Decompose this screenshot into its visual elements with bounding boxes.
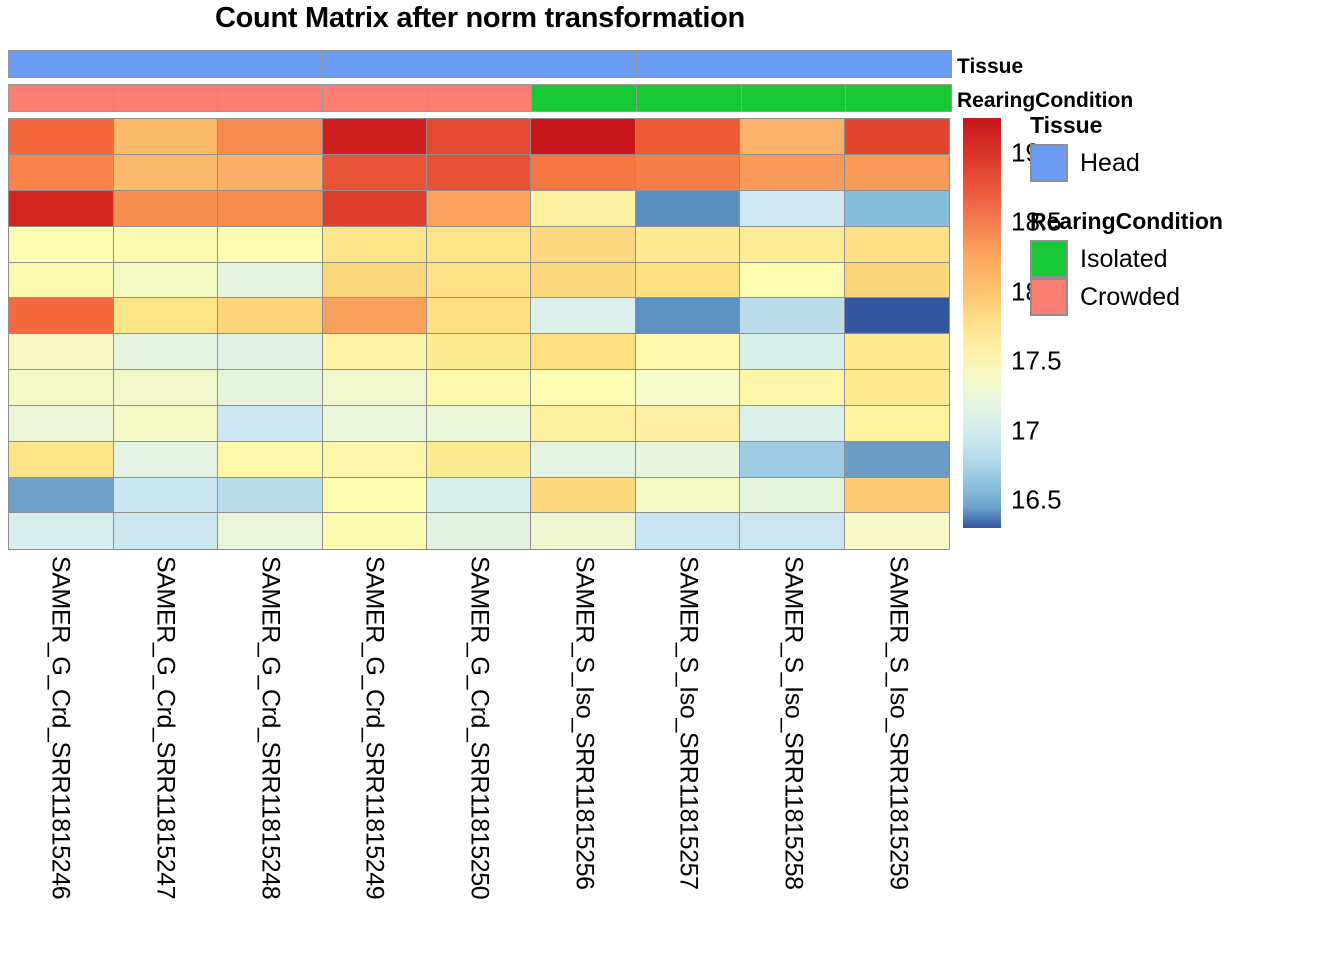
- annotation-tissue-cell: [741, 50, 847, 78]
- heatmap-cell: [530, 477, 636, 514]
- heatmap-cell: [426, 262, 532, 299]
- annotation-rearing-cell: [217, 84, 323, 112]
- heatmap-cell: [426, 297, 532, 334]
- heatmap-cell: [844, 262, 950, 299]
- column-label: SAMER_S_Iso_SRR11815258: [779, 556, 808, 890]
- colorbar: 1918.51817.51716.5: [963, 118, 1003, 528]
- heatmap-cell: [739, 226, 845, 263]
- column-label: SAMER_G_Crd_SRR11815248: [255, 556, 284, 899]
- annotation-rearing-cell: [322, 84, 428, 112]
- heatmap-cell: [844, 118, 950, 155]
- heatmap-cell: [739, 154, 845, 191]
- heatmap-cell: [217, 154, 323, 191]
- annotation-tissue-cell: [8, 50, 114, 78]
- heatmap-cell: [530, 333, 636, 370]
- annotation-label-rearing-condition: RearingCondition: [957, 90, 1133, 111]
- heatmap-cell: [217, 477, 323, 514]
- heatmap-cell: [113, 297, 219, 334]
- heatmap-cell: [635, 262, 741, 299]
- column-label-slot: SAMER_S_Iso_SRR11815257: [636, 552, 741, 952]
- heatmap-cell: [322, 477, 428, 514]
- heatmap-cell: [635, 226, 741, 263]
- heatmap-cell: [8, 118, 114, 155]
- heatmap-figure: Count Matrix after norm transformation T…: [0, 0, 1344, 960]
- annotation-rearing-cell: [427, 84, 533, 112]
- heatmap-cell: [426, 405, 532, 442]
- heatmap-cell: [217, 441, 323, 478]
- heatmap-cell: [8, 477, 114, 514]
- heatmap-cell: [635, 190, 741, 227]
- heatmap-cell: [113, 441, 219, 478]
- annotation-rearing-cell: [8, 84, 114, 112]
- heatmap-cell: [739, 477, 845, 514]
- heatmap-cell: [844, 405, 950, 442]
- heatmap-cell: [113, 477, 219, 514]
- annotation-tissue-cell: [636, 50, 742, 78]
- heatmap-cell: [322, 512, 428, 549]
- annotation-rearing-cell: [531, 84, 637, 112]
- page-title: Count Matrix after norm transformation: [0, 2, 960, 35]
- colorbar-tick-label: 17: [1011, 415, 1040, 446]
- heatmap-cell: [844, 512, 950, 549]
- heatmap-cell: [530, 405, 636, 442]
- annotation-tissue-cell: [531, 50, 637, 78]
- heatmap-cell: [322, 333, 428, 370]
- heatmap-cell: [113, 118, 219, 155]
- annotation-bar-rearing-condition: [8, 84, 950, 112]
- heatmap-cell: [739, 262, 845, 299]
- heatmap-cell: [8, 190, 114, 227]
- heatmap-cell: [739, 512, 845, 549]
- colorbar-tick-label: 16.5: [1011, 485, 1062, 516]
- heatmap-cell: [217, 512, 323, 549]
- heatmap-cell: [217, 118, 323, 155]
- heatmap-cell: [844, 441, 950, 478]
- legend-label-crowded: Crowded: [1080, 283, 1180, 312]
- legend-swatch-crowded: [1030, 278, 1068, 316]
- column-label-slot: SAMER_G_Crd_SRR11815250: [427, 552, 532, 952]
- column-label: SAMER_G_Crd_SRR11815249: [360, 556, 389, 899]
- annotation-bar-tissue: [8, 50, 950, 78]
- heatmap-cell: [8, 226, 114, 263]
- heatmap-cell: [635, 441, 741, 478]
- heatmap-cell: [322, 405, 428, 442]
- heatmap-cell: [844, 190, 950, 227]
- legend-swatch-head: [1030, 144, 1068, 182]
- heatmap-cell: [739, 118, 845, 155]
- heatmap-cell: [322, 441, 428, 478]
- column-label-slot: SAMER_G_Crd_SRR11815246: [8, 552, 113, 952]
- heatmap-cell: [322, 262, 428, 299]
- heatmap-cell: [217, 297, 323, 334]
- heatmap-cell: [217, 369, 323, 406]
- heatmap-cell: [322, 154, 428, 191]
- heatmap-cell: [113, 226, 219, 263]
- heatmap-cell: [113, 190, 219, 227]
- heatmap-cell: [113, 512, 219, 549]
- column-label: SAMER_S_Iso_SRR11815257: [674, 556, 703, 890]
- annotation-rearing-cell: [113, 84, 219, 112]
- heatmap-cell: [322, 369, 428, 406]
- heatmap-cell: [739, 405, 845, 442]
- heatmap-cell: [635, 118, 741, 155]
- annotation-tissue-cell: [113, 50, 219, 78]
- heatmap-cell: [844, 369, 950, 406]
- heatmap-grid: [8, 118, 950, 550]
- heatmap-cell: [426, 477, 532, 514]
- heatmap-cell: [530, 118, 636, 155]
- heatmap-cell: [530, 190, 636, 227]
- heatmap-cell: [635, 333, 741, 370]
- heatmap-cell: [217, 262, 323, 299]
- column-label-slot: SAMER_S_Iso_SRR11815258: [741, 552, 846, 952]
- colorbar-tick-label: 17.5: [1011, 346, 1062, 377]
- heatmap-cell: [8, 297, 114, 334]
- heatmap-cell: [426, 333, 532, 370]
- heatmap-cell: [8, 512, 114, 549]
- heatmap-cell: [8, 262, 114, 299]
- column-label: SAMER_G_Crd_SRR11815246: [46, 556, 75, 899]
- heatmap-cell: [635, 477, 741, 514]
- legend-label-head: Head: [1080, 149, 1140, 178]
- heatmap-cell: [113, 333, 219, 370]
- heatmap-cell: [635, 154, 741, 191]
- heatmap-cell: [8, 441, 114, 478]
- column-label-slot: SAMER_S_Iso_SRR11815259: [845, 552, 950, 952]
- heatmap-cell: [739, 190, 845, 227]
- heatmap-cell: [217, 405, 323, 442]
- heatmap-cell: [8, 333, 114, 370]
- column-label: SAMER_G_Crd_SRR11815250: [465, 556, 494, 899]
- colorbar-gradient: [963, 118, 1001, 528]
- heatmap-cell: [530, 154, 636, 191]
- legend-swatch-isolated: [1030, 240, 1068, 278]
- heatmap-cell: [8, 405, 114, 442]
- heatmap-cell: [426, 512, 532, 549]
- heatmap-cell: [322, 118, 428, 155]
- heatmap-cell: [113, 262, 219, 299]
- heatmap-cell: [844, 477, 950, 514]
- column-label: SAMER_S_Iso_SRR11815256: [569, 556, 598, 890]
- column-label-slot: SAMER_G_Crd_SRR11815249: [322, 552, 427, 952]
- heatmap-cell: [113, 154, 219, 191]
- legend-title-rearingcondition: RearingCondition: [1030, 208, 1223, 235]
- heatmap-cell: [113, 405, 219, 442]
- annotation-rearing-cell: [845, 84, 951, 112]
- heatmap-cell: [530, 512, 636, 549]
- column-label: SAMER_S_Iso_SRR11815259: [883, 556, 912, 890]
- heatmap-cell: [217, 333, 323, 370]
- annotation-label-tissue: Tissue: [957, 56, 1023, 77]
- annotation-rearing-cell: [636, 84, 742, 112]
- heatmap-cell: [426, 118, 532, 155]
- annotation-rearing-cell: [741, 84, 847, 112]
- column-label-slot: SAMER_G_Crd_SRR11815248: [217, 552, 322, 952]
- heatmap-cell: [635, 297, 741, 334]
- heatmap-cell: [426, 369, 532, 406]
- heatmap-cell: [635, 369, 741, 406]
- heatmap-cell: [8, 154, 114, 191]
- heatmap-cell: [322, 190, 428, 227]
- heatmap-cell: [635, 405, 741, 442]
- column-axis-labels: SAMER_G_Crd_SRR11815246SAMER_G_Crd_SRR11…: [8, 552, 950, 952]
- heatmap-cell: [739, 333, 845, 370]
- column-label: SAMER_G_Crd_SRR11815247: [151, 556, 180, 899]
- heatmap-cell: [322, 226, 428, 263]
- heatmap-cell: [739, 369, 845, 406]
- heatmap-cell: [426, 190, 532, 227]
- heatmap-cell: [217, 190, 323, 227]
- heatmap-cell: [844, 297, 950, 334]
- heatmap-cell: [844, 154, 950, 191]
- heatmap-cell: [844, 333, 950, 370]
- legend-label-isolated: Isolated: [1080, 245, 1168, 274]
- heatmap-cell: [844, 226, 950, 263]
- annotation-tissue-cell: [217, 50, 323, 78]
- heatmap-cell: [113, 369, 219, 406]
- heatmap-cell: [217, 226, 323, 263]
- heatmap-cell: [635, 512, 741, 549]
- legend-title-tissue: Tissue: [1030, 112, 1102, 139]
- column-label-slot: SAMER_S_Iso_SRR11815256: [531, 552, 636, 952]
- heatmap-cell: [426, 226, 532, 263]
- heatmap-cell: [8, 369, 114, 406]
- heatmap-cell: [530, 226, 636, 263]
- heatmap-cell: [322, 297, 428, 334]
- annotation-tissue-cell: [427, 50, 533, 78]
- annotation-tissue-cell: [845, 50, 951, 78]
- heatmap-cell: [530, 297, 636, 334]
- heatmap-cell: [426, 154, 532, 191]
- heatmap-cell: [530, 441, 636, 478]
- heatmap-cell: [739, 297, 845, 334]
- heatmap-cell: [739, 441, 845, 478]
- heatmap-cell: [530, 262, 636, 299]
- annotation-tissue-cell: [322, 50, 428, 78]
- heatmap-cell: [426, 441, 532, 478]
- column-label-slot: SAMER_G_Crd_SRR11815247: [113, 552, 218, 952]
- heatmap-cell: [530, 369, 636, 406]
